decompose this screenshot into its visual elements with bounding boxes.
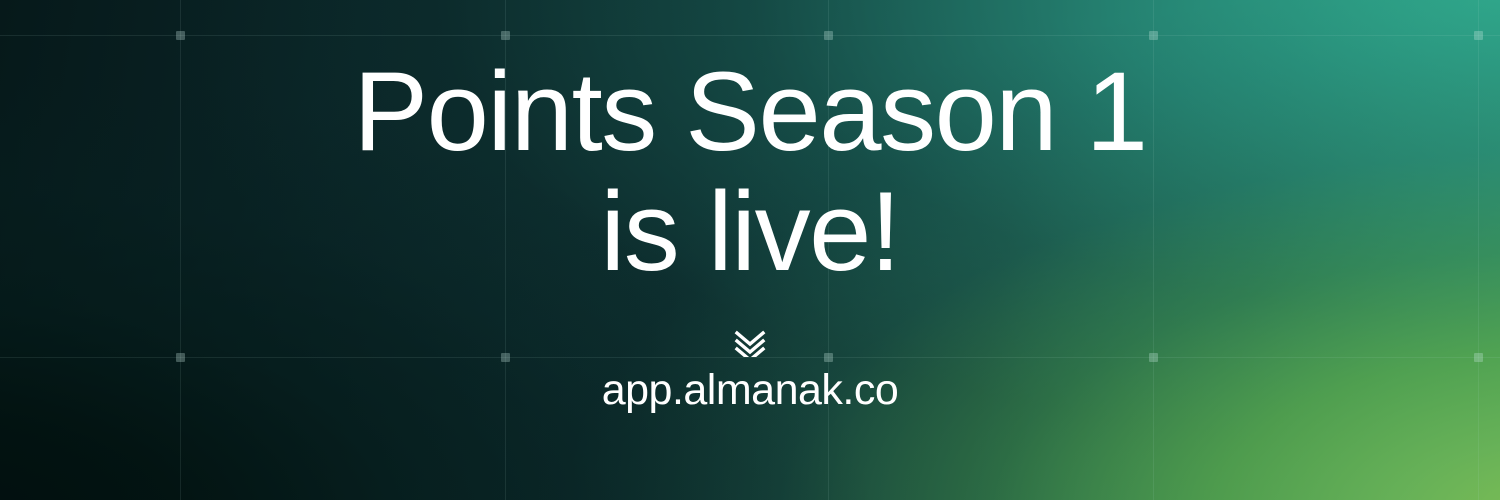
- app-url-link[interactable]: app.almanak.co: [602, 365, 899, 415]
- headline-line-2: is live!: [353, 172, 1146, 292]
- chevron-double-down-icon: [732, 330, 768, 357]
- banner-content: Points Season 1 is live! app.almanak.co: [0, 0, 1500, 500]
- promo-banner: Points Season 1 is live! app.almanak.co: [0, 0, 1500, 500]
- call-to-action[interactable]: app.almanak.co: [602, 330, 899, 415]
- page-title: Points Season 1 is live!: [353, 52, 1146, 292]
- headline-line-1: Points Season 1: [353, 52, 1146, 172]
